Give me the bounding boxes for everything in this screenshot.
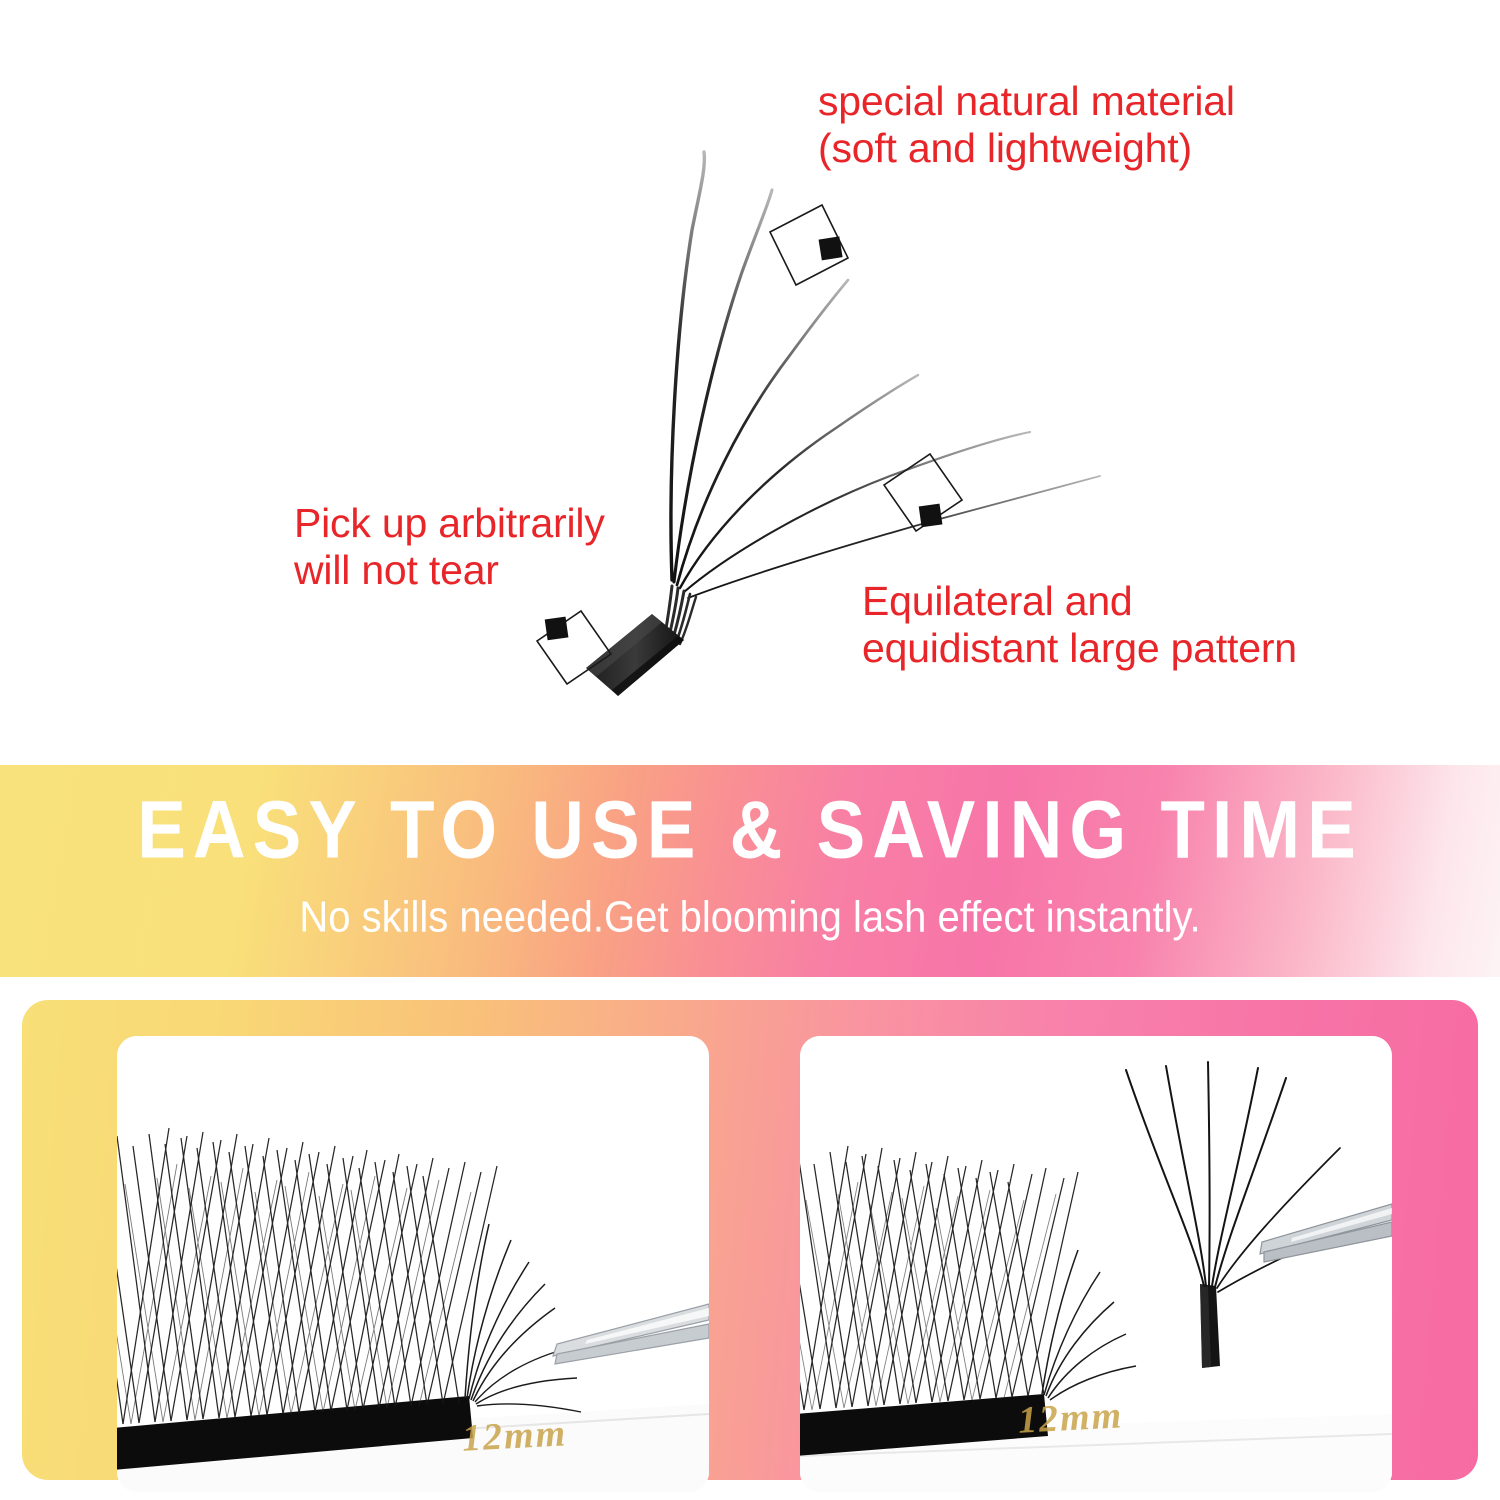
photo-panel: 12mm <box>22 1000 1478 1480</box>
callout-label-pattern: Equilateral and equidistant large patter… <box>862 578 1297 671</box>
lash-fan-lifted-photo <box>800 1036 1392 1492</box>
photo-card-lash-fan-lifted[interactable]: 12mm <box>800 1036 1392 1492</box>
diagram-section: special natural material (soft and light… <box>0 0 1500 765</box>
callout-marker-pattern <box>884 454 962 531</box>
callout-marker-material <box>770 205 848 285</box>
lash-strands <box>671 152 1100 598</box>
lash-tray-photo <box>117 1036 709 1492</box>
banner-subtext: No skills needed.Get blooming lash effec… <box>0 895 1500 939</box>
banner-headline: EASY TO USE & SAVING TIME <box>0 789 1500 871</box>
callout-label-pickup: Pick up arbitrarily will not tear <box>294 500 605 593</box>
lash-base <box>586 614 684 696</box>
promo-banner: EASY TO USE & SAVING TIME No skills need… <box>0 765 1500 977</box>
callout-label-material: special natural material (soft and light… <box>818 78 1235 171</box>
lash-strand-3 <box>677 280 848 585</box>
photo-card-lash-tray[interactable]: 12mm <box>117 1036 709 1492</box>
